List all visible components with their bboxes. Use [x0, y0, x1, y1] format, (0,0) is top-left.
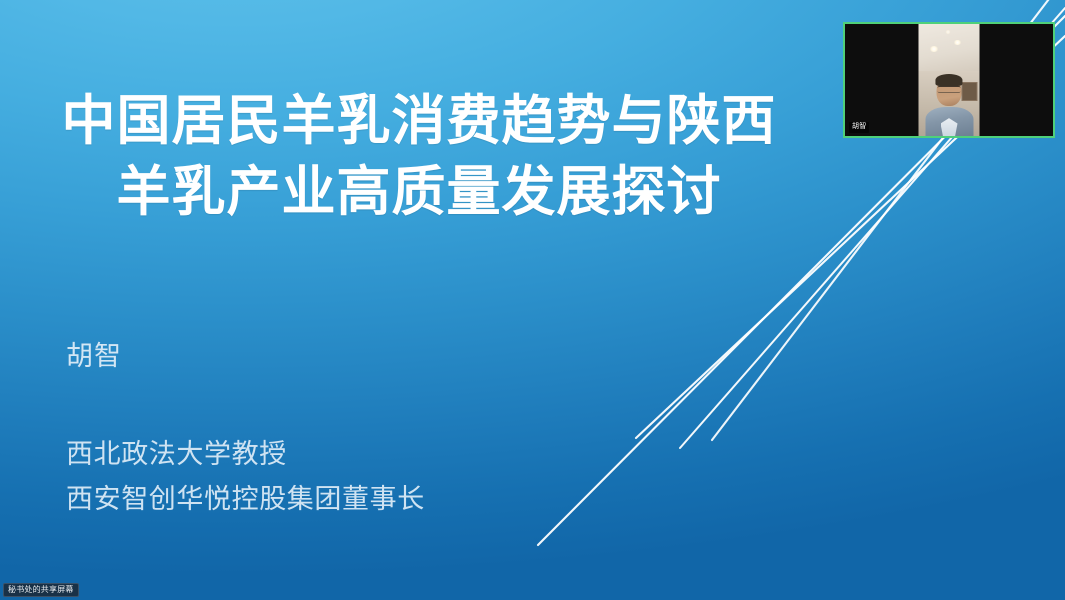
participant-hair	[935, 74, 962, 86]
video-letterbox	[845, 24, 1053, 136]
participant-video-tile[interactable]: 胡智	[843, 22, 1055, 138]
slide-title: 中国居民羊乳消费趋势与陕西 羊乳产业高质量发展探讨	[0, 86, 838, 229]
glasses-icon	[937, 86, 960, 93]
wall-picture-frame	[961, 82, 977, 101]
presenter-affiliations: 西北政法大学教授 西安智创华悦控股集团董事长	[66, 432, 425, 523]
slide-title-line-2: 羊乳产业高质量发展探讨	[0, 157, 838, 228]
affiliation-line-2: 西安智创华悦控股集团董事长	[66, 477, 425, 522]
presenter-info: 胡智 西北政法大学教授 西安智创华悦控股集团董事长	[66, 340, 425, 522]
screen-share-status-badge: 秘书处的共享屏幕	[3, 583, 79, 597]
affiliation-line-1: 西北政法大学教授	[66, 432, 425, 477]
video-image	[919, 24, 980, 136]
presenter-name: 胡智	[66, 340, 425, 374]
participant-name-label: 胡智	[849, 122, 869, 133]
ceiling-light-icon	[945, 30, 950, 34]
slide-title-line-1: 中国居民羊乳消费趋势与陕西	[0, 86, 838, 157]
screen-share-viewport: 中国居民羊乳消费趋势与陕西 羊乳产业高质量发展探讨 胡智 西北政法大学教授 西安…	[0, 0, 1065, 600]
ceiling-light-icon	[953, 40, 961, 45]
